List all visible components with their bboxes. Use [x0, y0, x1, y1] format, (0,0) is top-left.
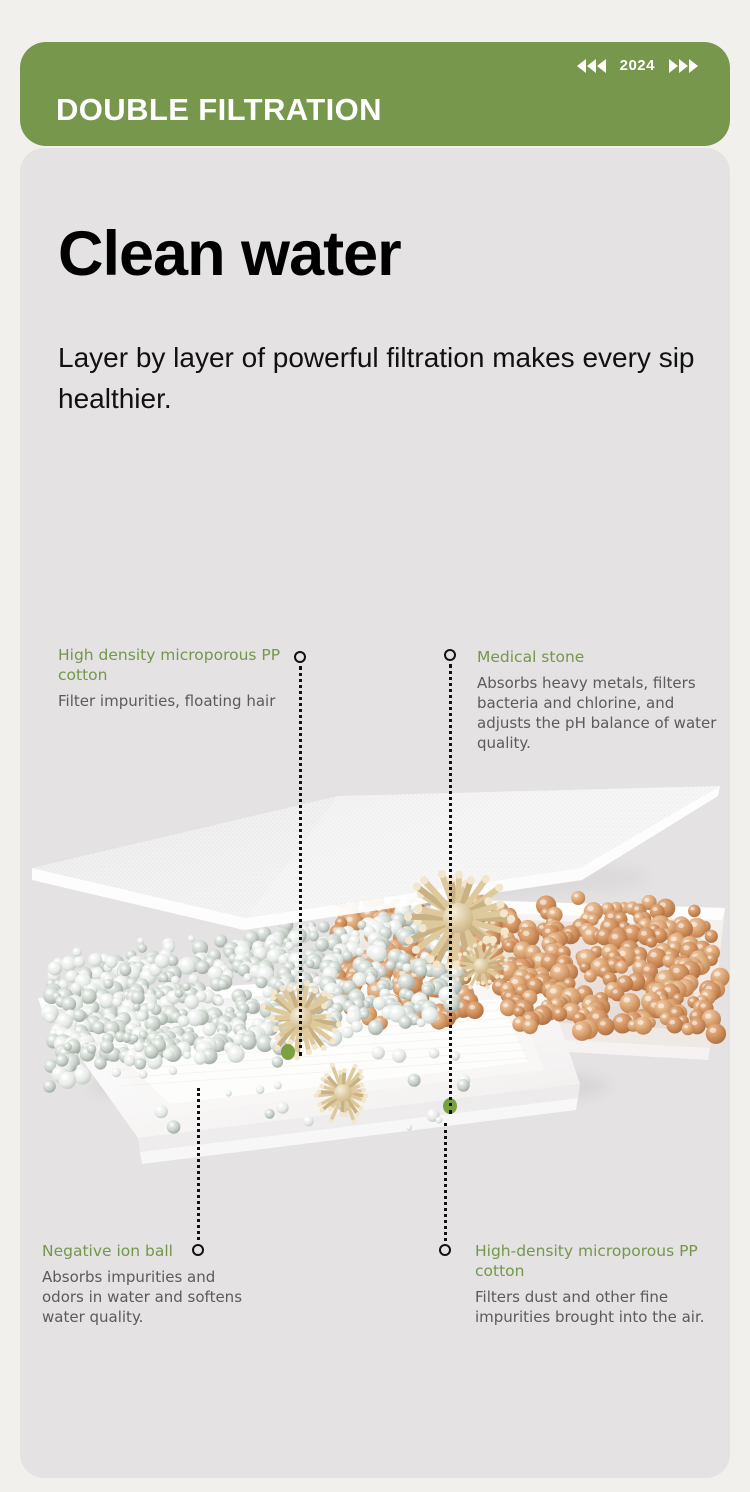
- callout-title: Negative ion ball: [42, 1241, 247, 1261]
- callout-bottom-left: Negative ion ball Absorbs impurities and…: [42, 1241, 247, 1328]
- triangle-left-icon: [597, 59, 606, 73]
- callout-title: Medical stone: [477, 647, 722, 667]
- next-year-arrows[interactable]: [669, 59, 698, 73]
- callout-top-left: High density microporous PP cotton Filte…: [58, 645, 298, 712]
- green-dot-marker: [281, 1044, 295, 1060]
- year-label: 2024: [620, 57, 655, 74]
- connector-line-top-left: [299, 666, 302, 1056]
- callout-description: Filters dust and other fine impurities b…: [475, 1288, 715, 1328]
- banner-title: DOUBLE FILTRATION: [56, 92, 382, 128]
- infographic-page: 2024 DOUBLE FILTRATION Clean water Layer…: [0, 0, 750, 1492]
- callout-title: High-density microporous PP cotton: [475, 1241, 715, 1281]
- callout-top-right: Medical stone Absorbs heavy metals, filt…: [477, 647, 722, 753]
- connector-line-top-right: [449, 664, 452, 1114]
- triangle-right-icon: [689, 59, 698, 73]
- callout-description: Absorbs heavy metals, filters bacteria a…: [477, 674, 722, 753]
- connector-line-bottom-left: [197, 1088, 200, 1240]
- prev-year-arrows[interactable]: [577, 59, 606, 73]
- year-navigator: 2024: [577, 57, 698, 74]
- content-card: Clean water Layer by layer of powerful f…: [20, 148, 730, 1478]
- triangle-right-icon: [669, 59, 678, 73]
- triangle-left-icon: [577, 59, 586, 73]
- callout-description: Absorbs impurities and odors in water an…: [42, 1268, 247, 1327]
- callout-description: Filter impurities, floating hair: [58, 692, 298, 712]
- callout-title: High density microporous PP cotton: [58, 645, 298, 685]
- callout-bottom-right: High-density microporous PP cotton Filte…: [475, 1241, 715, 1328]
- connector-marker-top-right: [444, 649, 456, 661]
- triangle-right-icon: [679, 59, 688, 73]
- triangle-left-icon: [587, 59, 596, 73]
- connector-line-bottom-right: [444, 1123, 447, 1241]
- header-banner: 2024 DOUBLE FILTRATION: [20, 42, 730, 146]
- page-subtitle: Layer by layer of powerful filtration ma…: [58, 338, 708, 419]
- page-title: Clean water: [58, 223, 401, 286]
- connector-marker-bottom-right: [439, 1244, 451, 1256]
